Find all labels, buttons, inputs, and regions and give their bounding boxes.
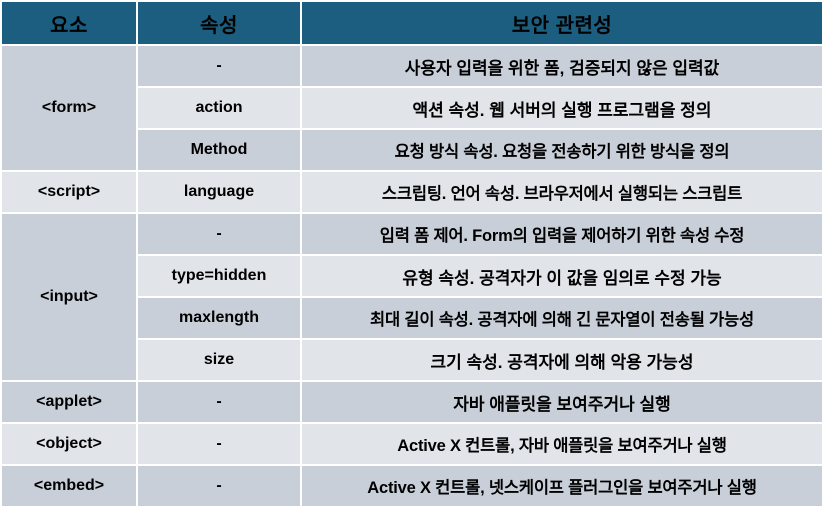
table-row: <applet>-자바 애플릿을 보여주거나 실행 bbox=[2, 382, 822, 422]
cell-element: <applet> bbox=[2, 382, 136, 422]
cell-attribute: action bbox=[138, 88, 300, 128]
cell-attribute: - bbox=[138, 424, 300, 464]
cell-security-relevance: Active X 컨트롤, 넷스케이프 플러그인을 보여주거나 실행 bbox=[302, 466, 822, 506]
cell-security-relevance: Active X 컨트롤, 자바 애플릿을 보여주거나 실행 bbox=[302, 424, 822, 464]
cell-element: <object> bbox=[2, 424, 136, 464]
column-header-security-relevance: 보안 관련성 bbox=[302, 2, 822, 44]
cell-attribute: - bbox=[138, 382, 300, 422]
cell-security-relevance: 자바 애플릿을 보여주거나 실행 bbox=[302, 382, 822, 422]
column-header-element: 요소 bbox=[2, 2, 136, 44]
cell-attribute: size bbox=[138, 340, 300, 380]
cell-security-relevance: 액션 속성. 웹 서버의 실행 프로그램을 정의 bbox=[302, 88, 822, 128]
cell-element: <script> bbox=[2, 172, 136, 212]
table-row: <embed>-Active X 컨트롤, 넷스케이프 플러그인을 보여주거나 … bbox=[2, 466, 822, 506]
cell-element: <input> bbox=[2, 214, 136, 380]
table-row: <input>-입력 폼 제어. Form의 입력을 제어하기 위한 속성 수정 bbox=[2, 214, 822, 254]
security-table-container: 요소 속성 보안 관련성 <form>-사용자 입력을 위한 폼, 검증되지 않… bbox=[0, 0, 836, 486]
cell-attribute: - bbox=[138, 214, 300, 254]
table-row: <object>-Active X 컨트롤, 자바 애플릿을 보여주거나 실행 bbox=[2, 424, 822, 464]
cell-security-relevance: 크기 속성. 공격자에 의해 악용 가능성 bbox=[302, 340, 822, 380]
cell-security-relevance: 입력 폼 제어. Form의 입력을 제어하기 위한 속성 수정 bbox=[302, 214, 822, 254]
cell-attribute: language bbox=[138, 172, 300, 212]
cell-attribute: type=hidden bbox=[138, 256, 300, 296]
cell-element: <form> bbox=[2, 46, 136, 170]
column-header-attribute: 속성 bbox=[138, 2, 300, 44]
cell-security-relevance: 스크립팅. 언어 속성. 브라우저에서 실행되는 스크립트 bbox=[302, 172, 822, 212]
cell-attribute: - bbox=[138, 46, 300, 86]
header-row: 요소 속성 보안 관련성 bbox=[2, 2, 822, 44]
cell-element: <embed> bbox=[2, 466, 136, 506]
table-row: <form>-사용자 입력을 위한 폼, 검증되지 않은 입력값 bbox=[2, 46, 822, 86]
cell-attribute: - bbox=[138, 466, 300, 506]
cell-security-relevance: 최대 길이 속성. 공격자에 의해 긴 문자열이 전송될 가능성 bbox=[302, 298, 822, 338]
html-element-security-table: 요소 속성 보안 관련성 <form>-사용자 입력을 위한 폼, 검증되지 않… bbox=[0, 0, 824, 508]
table-header: 요소 속성 보안 관련성 bbox=[2, 2, 822, 44]
cell-security-relevance: 유형 속성. 공격자가 이 값을 임의로 수정 가능 bbox=[302, 256, 822, 296]
table-body: <form>-사용자 입력을 위한 폼, 검증되지 않은 입력값action액션… bbox=[2, 46, 822, 506]
cell-attribute: Method bbox=[138, 130, 300, 170]
cell-security-relevance: 사용자 입력을 위한 폼, 검증되지 않은 입력값 bbox=[302, 46, 822, 86]
cell-security-relevance: 요청 방식 속성. 요청을 전송하기 위한 방식을 정의 bbox=[302, 130, 822, 170]
table-row: <script>language스크립팅. 언어 속성. 브라우저에서 실행되는… bbox=[2, 172, 822, 212]
cell-attribute: maxlength bbox=[138, 298, 300, 338]
